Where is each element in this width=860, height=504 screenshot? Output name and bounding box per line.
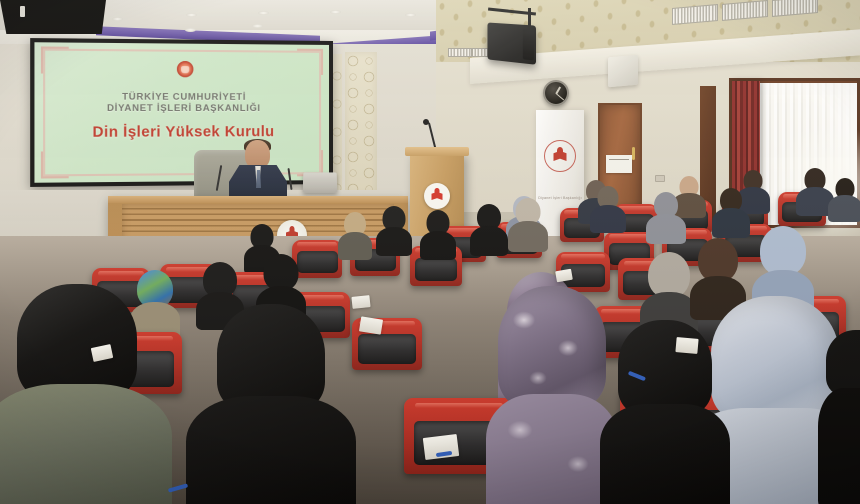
slide-line-2: DİYANET İŞLERİ BAŞKANLIĞI [34,103,329,113]
emblem-book [432,192,443,200]
person-body [828,195,860,222]
table-top-edge [108,196,408,203]
audience-person [186,304,356,504]
downlight [112,17,123,21]
open-laptop-icon [303,172,338,193]
person-body [420,231,456,260]
handout-paper [675,337,698,354]
projection-screen: TÜRKİYE CUMHURİYETİ DİYANET İŞLERİ BAŞKA… [30,38,333,187]
handout-paper [359,316,383,334]
audience-person [508,198,548,248]
audience-person [376,206,412,252]
slide-title: Din İşleri Yüksek Kurulu [34,124,329,141]
ceiling-panel-light [20,6,25,17]
person-body [646,214,686,244]
audience-person [590,186,626,230]
audience-person [486,286,618,504]
person-body [376,227,412,256]
audience-person [470,204,508,252]
person-head [618,320,712,416]
wall-speaker-secondary-icon [608,55,638,88]
handout-paper [351,295,370,309]
wall-clock-icon [543,80,569,106]
diyanet-emblem-icon [544,140,576,172]
ceiling-speaker-icon [487,22,536,64]
audience-person [828,178,860,220]
person-head [498,286,606,408]
speaker-grille [523,29,534,61]
slide-line-1: TÜRKİYE CUMHURİYETİ [34,91,329,102]
diyanet-emblem-icon [424,183,450,209]
emblem-book [554,151,567,161]
handout-paper [423,434,459,460]
slide-corner [41,46,69,73]
slide-corner [41,151,69,178]
person-body [470,226,508,256]
presenter-person [229,140,287,202]
audience-person [420,210,456,256]
person-body [712,208,750,238]
door-handle[interactable] [632,147,635,160]
downlight [405,13,416,17]
person-body [590,205,626,233]
person-body [486,394,618,504]
downlight [258,11,269,15]
downlight [252,24,263,28]
person-body [508,221,548,252]
audience-person [712,188,750,234]
person-body [600,404,730,504]
lattice-panel [345,52,377,198]
downlight [185,28,196,32]
downlight [186,13,197,17]
posted-notice-paper [606,155,632,173]
microphone-head [423,119,429,125]
person-head [826,330,860,396]
audience-person [600,320,730,504]
hvac-vent [448,48,472,57]
presenter-head [245,140,270,169]
wall-outlet [655,175,665,182]
audience-person [818,330,860,504]
audience-person [646,192,686,240]
person-body [0,384,172,504]
clock-hand-minute [556,93,564,100]
conference-hall-photo: Kİ Zİ TÜRKİYE CUMHURİYETİ DİYANET İŞLERİ… [0,0,860,504]
downlight [330,10,341,14]
slide-corner [297,49,323,75]
person-head [760,226,806,276]
person-body [338,232,372,260]
audience-person [338,212,372,256]
diyanet-emblem-icon [176,61,193,77]
person-body [818,388,860,504]
audience-person [0,284,172,504]
person-body [186,396,356,504]
ceiling-dark-panel [0,0,106,34]
lectern-top [405,147,469,156]
